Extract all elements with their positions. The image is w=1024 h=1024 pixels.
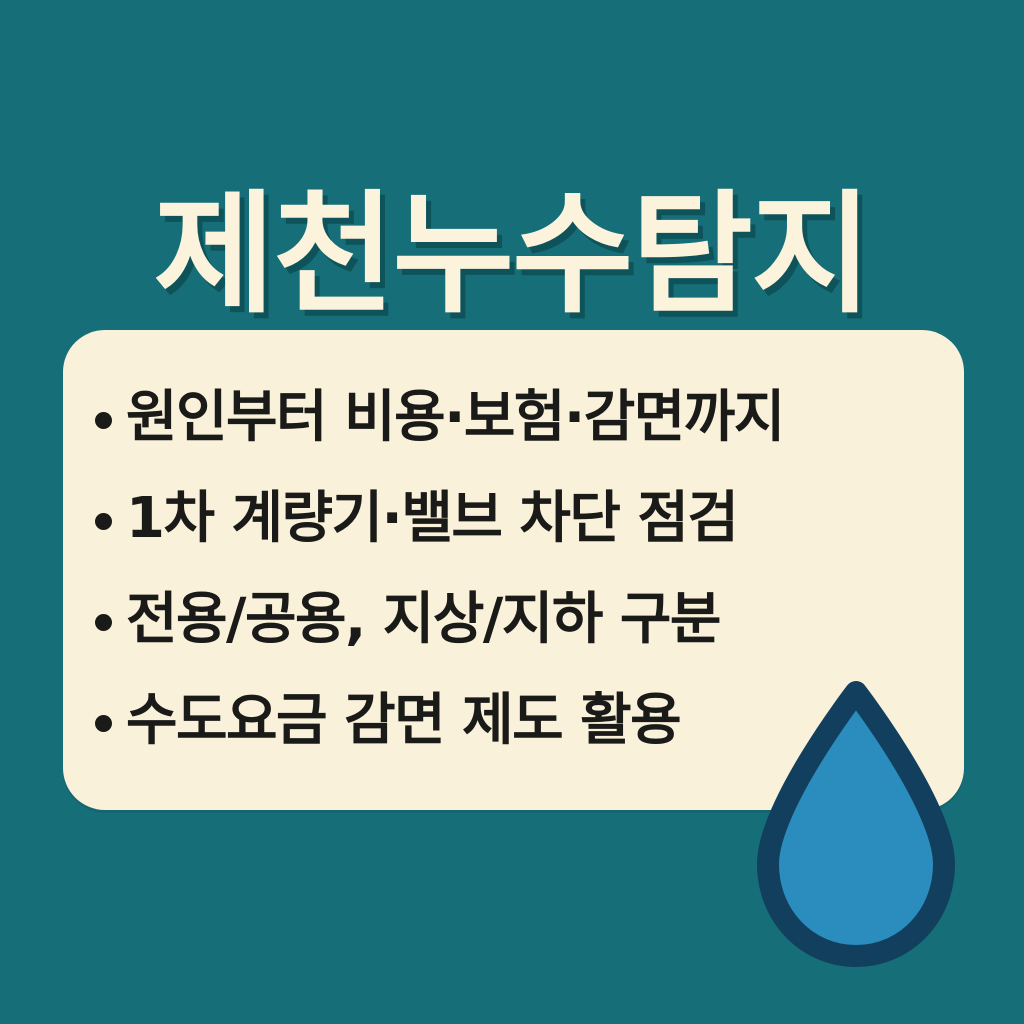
- list-item: 1차 계량기·밸브 차단 점검: [95, 480, 940, 560]
- bullet-dot-icon: [95, 614, 112, 631]
- bullet-dot-icon: [95, 715, 112, 732]
- bullet-dot-icon: [95, 513, 112, 530]
- water-drop-icon: [748, 678, 964, 970]
- poster-canvas: 제천누수탐지 원인부터 비용·보험·감면까지 1차 계량기·밸브 차단 점검 전…: [0, 0, 1024, 1024]
- page-title: 제천누수탐지: [0, 184, 1024, 327]
- bullet-item-label: 전용/공용, 지상/지하 구분: [126, 591, 720, 650]
- bullet-item-label: 수도요금 감면 제도 활용: [126, 692, 680, 751]
- bullet-item-label: 1차 계량기·밸브 차단 점검: [126, 490, 737, 549]
- list-item: 전용/공용, 지상/지하 구분: [95, 581, 940, 661]
- bullet-item-label: 원인부터 비용·보험·감면까지: [126, 389, 784, 448]
- list-item: 원인부터 비용·보험·감면까지: [95, 379, 940, 459]
- bullet-dot-icon: [95, 412, 112, 429]
